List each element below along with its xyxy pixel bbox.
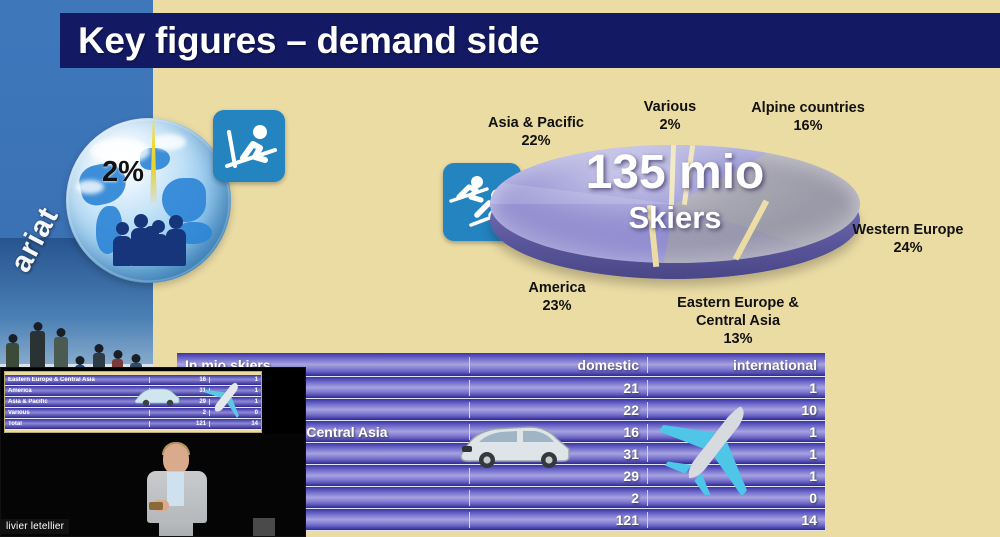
presentation-slide-screenshot: ariat Key figures – demand side 2% (0, 0, 1000, 537)
presenter-figure (141, 444, 213, 537)
pip-podium (253, 518, 275, 537)
row-international: 10 (647, 402, 825, 418)
row-domestic: 22 (469, 402, 647, 418)
row-domestic: 2 (469, 490, 647, 506)
pie-label-various: Various2% (618, 98, 722, 134)
downhill-skier-icon (213, 110, 285, 182)
pip-plane-icon (201, 378, 251, 418)
page-title: Key figures – demand side (78, 20, 539, 62)
row-domestic: 16 (469, 424, 647, 440)
pip-slide-thumbnail: Eastern Europe & Central Asia 16 1 Ameri… (4, 371, 262, 433)
pie-label-asia-pacific: Asia & Pacific22% (466, 114, 606, 150)
column-header-international: international (647, 357, 825, 373)
row-domestic: 121 (469, 512, 647, 528)
row-domestic: 21 (469, 380, 647, 396)
pip-row-label: America (5, 388, 150, 394)
pip-row-label: Various (5, 410, 150, 416)
pip-row-label: Eastern Europe & Central Asia (5, 377, 150, 383)
row-international: 1 (647, 446, 825, 462)
pie-label-america: America23% (498, 279, 616, 315)
row-domestic: 29 (469, 468, 647, 484)
row-international: 1 (647, 380, 825, 396)
column-header-domestic: domestic (469, 357, 647, 373)
people-group-icon (110, 206, 194, 266)
pip-row-label: Asia & Pacific (5, 399, 150, 405)
pie-label-western-europe: Western Europe24% (828, 221, 988, 257)
skiers-pie-chart: 135 mio Skiers (490, 145, 860, 295)
pie-label-eastern-europe-central-asia: Eastern Europe &Central Asia13% (658, 294, 818, 348)
row-international: 0 (647, 490, 825, 506)
row-international: 14 (647, 512, 825, 528)
row-domestic: 31 (469, 446, 647, 462)
global-share-percent: 2% (102, 156, 144, 189)
presenter-video-overlay[interactable]: Eastern Europe & Central Asia 16 1 Ameri… (0, 367, 306, 537)
pip-table-total-row: Total 121 14 (5, 419, 261, 430)
pip-row-international: 14 (210, 421, 261, 427)
row-international: 1 (647, 468, 825, 484)
pie-total-value: 135 mio (490, 149, 860, 197)
row-international: 1 (647, 424, 825, 440)
global-share-graphic: 2% (66, 118, 236, 288)
pip-row-domestic: 121 (150, 421, 210, 427)
slide-title-bar: Key figures – demand side (60, 13, 1000, 68)
pie-label-alpine-countries: Alpine countries16% (735, 99, 881, 135)
pie-center-label: 135 mio Skiers (490, 149, 860, 236)
pip-car-icon (133, 384, 181, 406)
presenter-name-caption: livier letellier (1, 519, 69, 534)
pip-row-label: Total (5, 421, 150, 427)
pie-total-unit: Skiers (490, 200, 860, 236)
